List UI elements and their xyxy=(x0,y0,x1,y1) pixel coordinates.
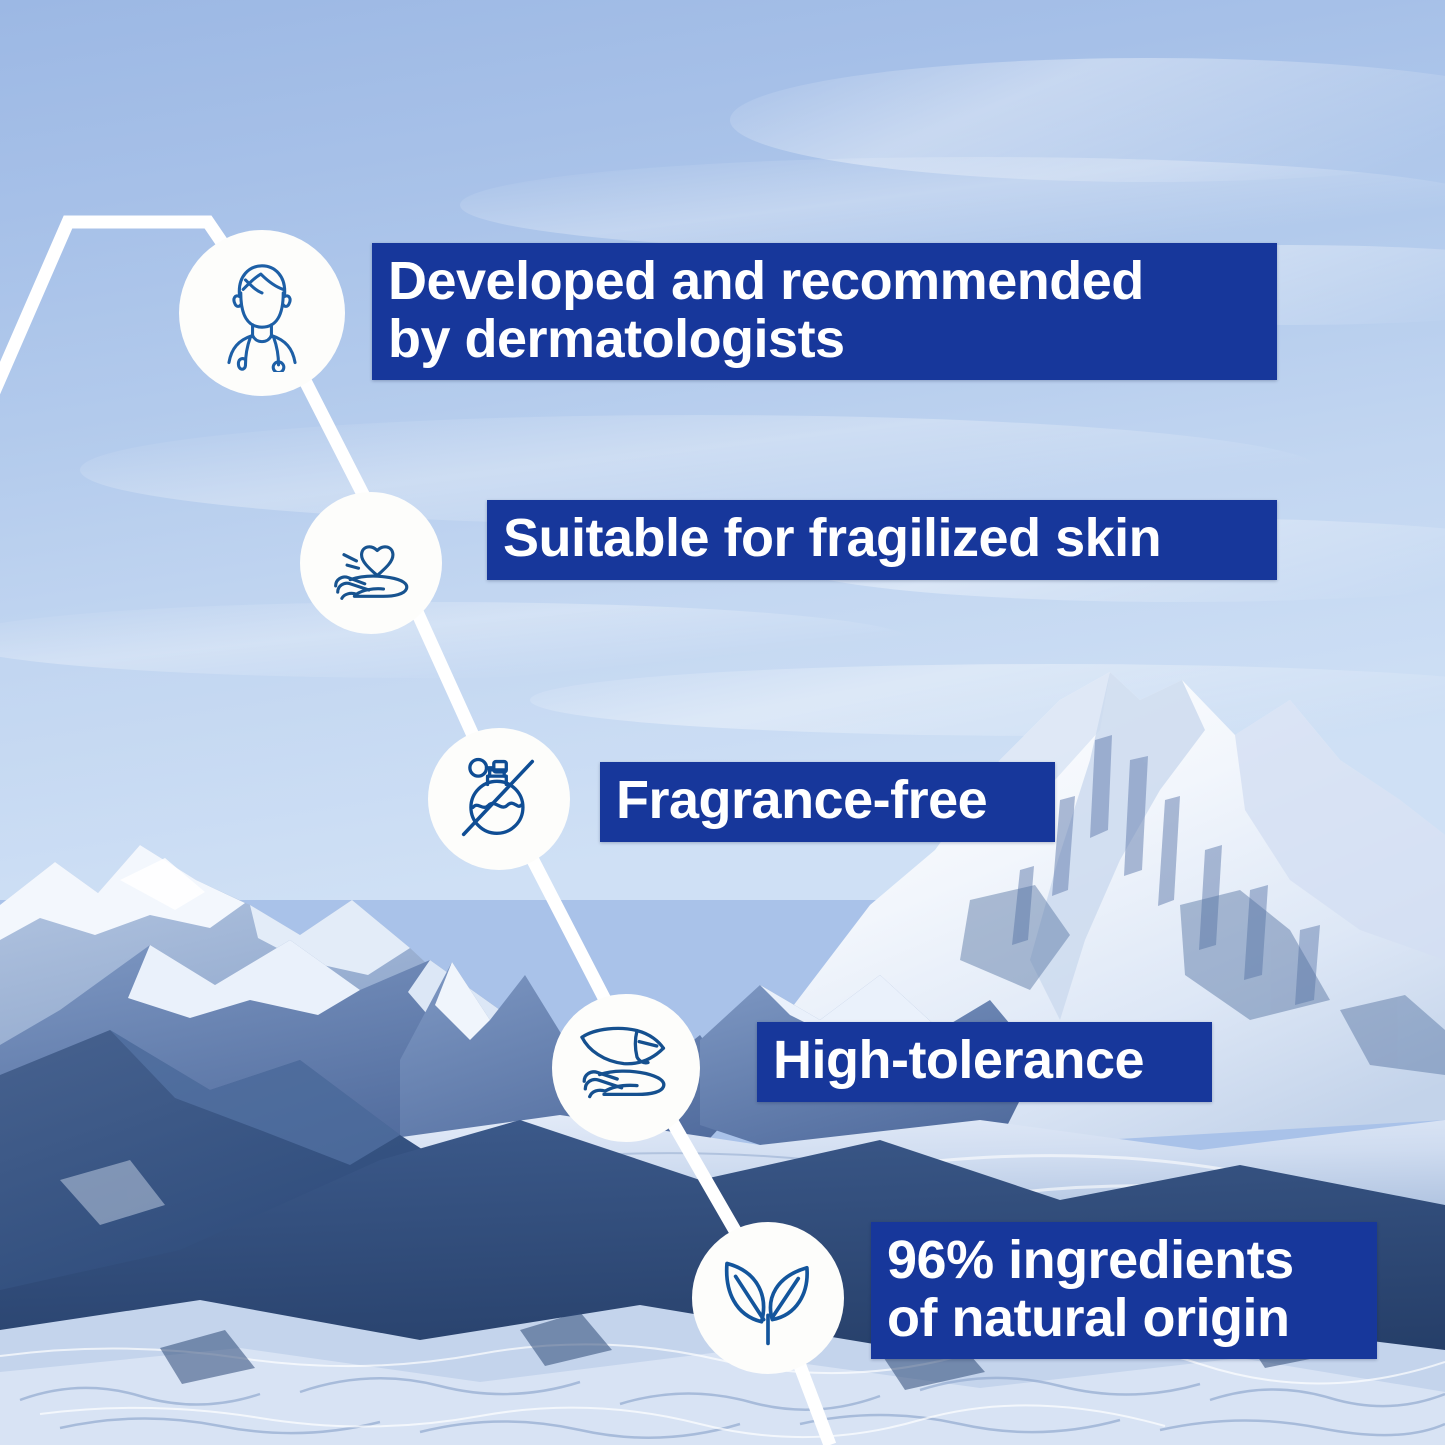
benefit-text-high-tolerance: High-tolerance xyxy=(757,1022,1212,1102)
doctor-icon xyxy=(203,254,321,372)
infographic-canvas: Developed and recommended by dermatologi… xyxy=(0,0,1445,1445)
benefit-badge-dermatologists[interactable] xyxy=(179,230,345,396)
no-fragrance-icon xyxy=(447,747,551,851)
benefit-badge-fragrance-free[interactable] xyxy=(428,728,570,870)
benefit-badge-natural-origin[interactable] xyxy=(692,1222,844,1374)
benefit-text-natural-origin: 96% ingredients of natural origin xyxy=(871,1222,1377,1359)
leaves-icon xyxy=(714,1244,822,1352)
hand-heart-icon xyxy=(319,511,423,615)
feather-hand-icon xyxy=(571,1013,681,1123)
benefit-text-dermatologists: Developed and recommended by dermatologi… xyxy=(372,243,1277,380)
benefit-text-fragrance-free: Fragrance-free xyxy=(600,762,1055,842)
benefit-badge-fragilized-skin[interactable] xyxy=(300,492,442,634)
benefit-badge-high-tolerance[interactable] xyxy=(552,994,700,1142)
benefit-text-fragilized-skin: Suitable for fragilized skin xyxy=(487,500,1277,580)
